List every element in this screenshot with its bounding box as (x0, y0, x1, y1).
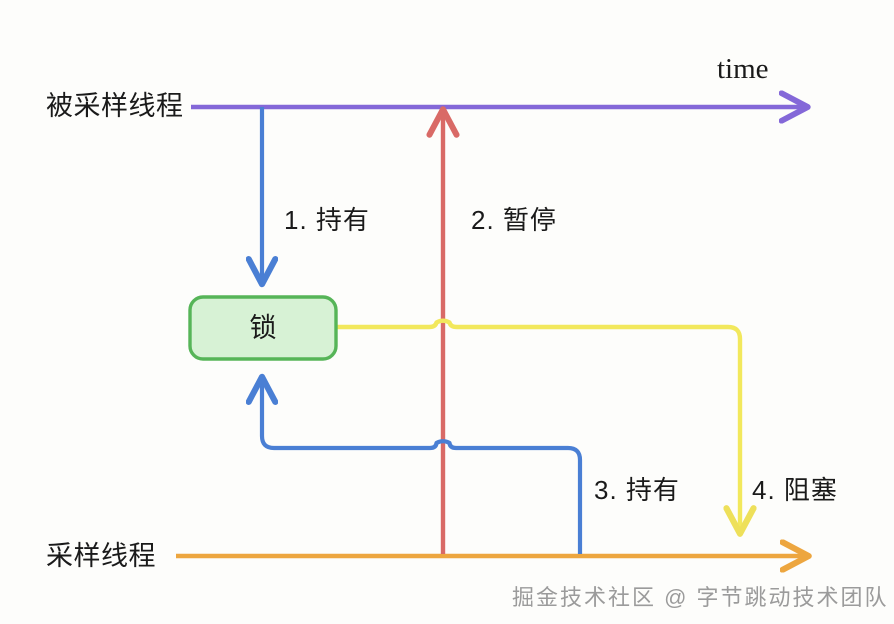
step-2-label: 2. 暂停 (471, 207, 557, 233)
time-axis-label: time (717, 55, 769, 84)
watermark-text: 掘金技术社区 @ 字节跳动技术团队 (512, 580, 889, 612)
sampler-thread-label: 采样线程 (46, 543, 156, 570)
step-3-label: 3. 持有 (594, 477, 680, 503)
lock-node-label: 锁 (188, 315, 338, 342)
sampled-thread-label: 被采样线程 (46, 93, 184, 120)
hold-path-step3 (262, 379, 580, 554)
step-4-label: 4. 阻塞 (752, 477, 838, 503)
diagram-canvas: 被采样线程 采样线程 time 锁 1. 持有 2. 暂停 3. 持有 4. 阻… (0, 0, 894, 624)
step-1-label: 1. 持有 (284, 207, 370, 233)
